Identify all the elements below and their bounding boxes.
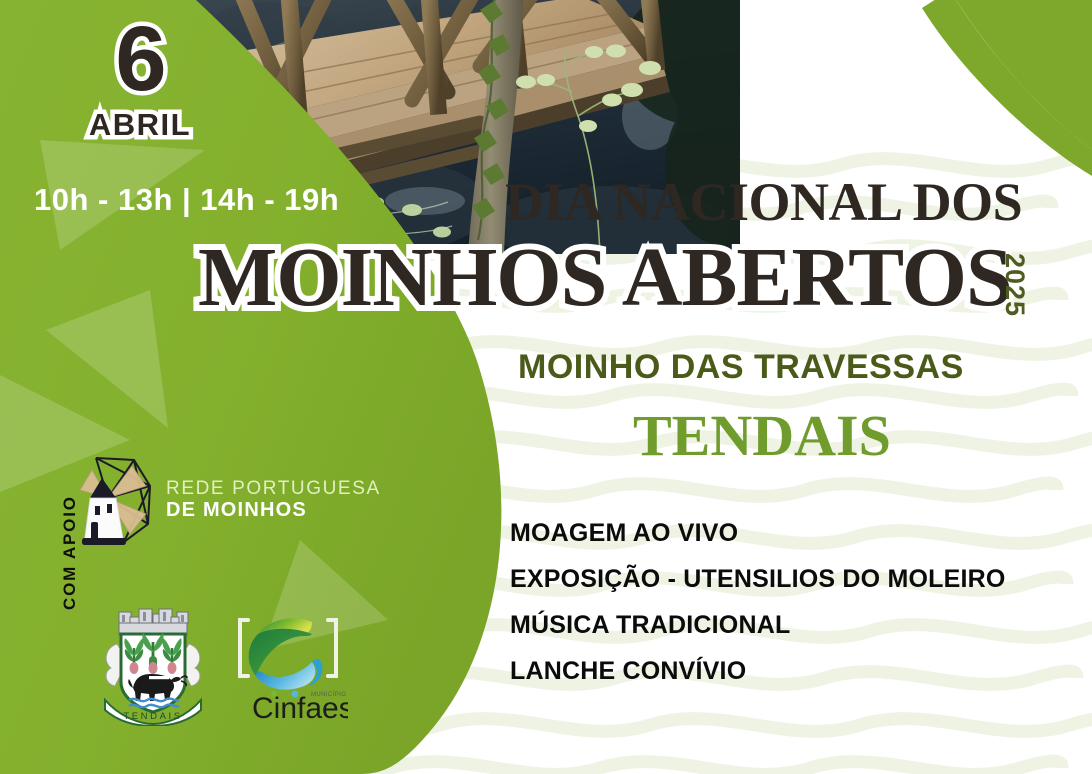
date-month: ABRIL	[78, 109, 202, 140]
list-item: LANCHE CONVÍVIO	[510, 659, 1006, 684]
date-badge: 6 ABRIL	[78, 16, 202, 140]
list-item: EXPOSIÇÃO - UTENSILIOS DO MOLEIRO	[510, 567, 1006, 592]
support-label: COM APOIO	[60, 495, 80, 610]
locality-name: TENDAIS	[633, 402, 891, 469]
coat-of-arms-ribbon-text: TENDAIS	[123, 711, 182, 722]
venue-name: MOINHO DAS TRAVESSAS	[518, 348, 964, 387]
title-line-2: MOINHOS ABERTOS	[198, 236, 1012, 320]
date-day: 6	[78, 16, 202, 103]
rede-logo-line-1: REDE PORTUGUESA	[166, 478, 381, 500]
list-item: MÚSICA TRADICIONAL	[510, 613, 1006, 638]
rede-logo-line-2: DE MOINHOS	[166, 499, 381, 522]
opening-hours: 10h - 13h | 14h - 19h	[34, 182, 339, 218]
list-item: MOAGEM AO VIVO	[510, 521, 1006, 546]
cinfaes-tagline: MUNICÍPIO	[311, 691, 346, 698]
cinfaes-municipality-logo: Cinfaes MUNICÍPIO	[228, 604, 348, 724]
tendais-coat-of-arms: TENDAIS	[97, 600, 209, 726]
poster-canvas: 6 ABRIL 10h - 13h | 14h - 19h DIA NACION…	[0, 0, 1092, 774]
activities-list: MOAGEM AO VIVO EXPOSIÇÃO - UTENSILIOS DO…	[510, 521, 1006, 705]
year-label: 2025	[999, 253, 1030, 317]
title-line-1: DIA NACIONAL DOS	[505, 175, 1022, 229]
rede-portuguesa-moinhos-logo: REDE PORTUGUESA DE MOINHOS	[62, 452, 381, 548]
green-corner-band	[892, 0, 1092, 190]
rede-logo-text: REDE PORTUGUESA DE MOINHOS	[166, 478, 381, 523]
